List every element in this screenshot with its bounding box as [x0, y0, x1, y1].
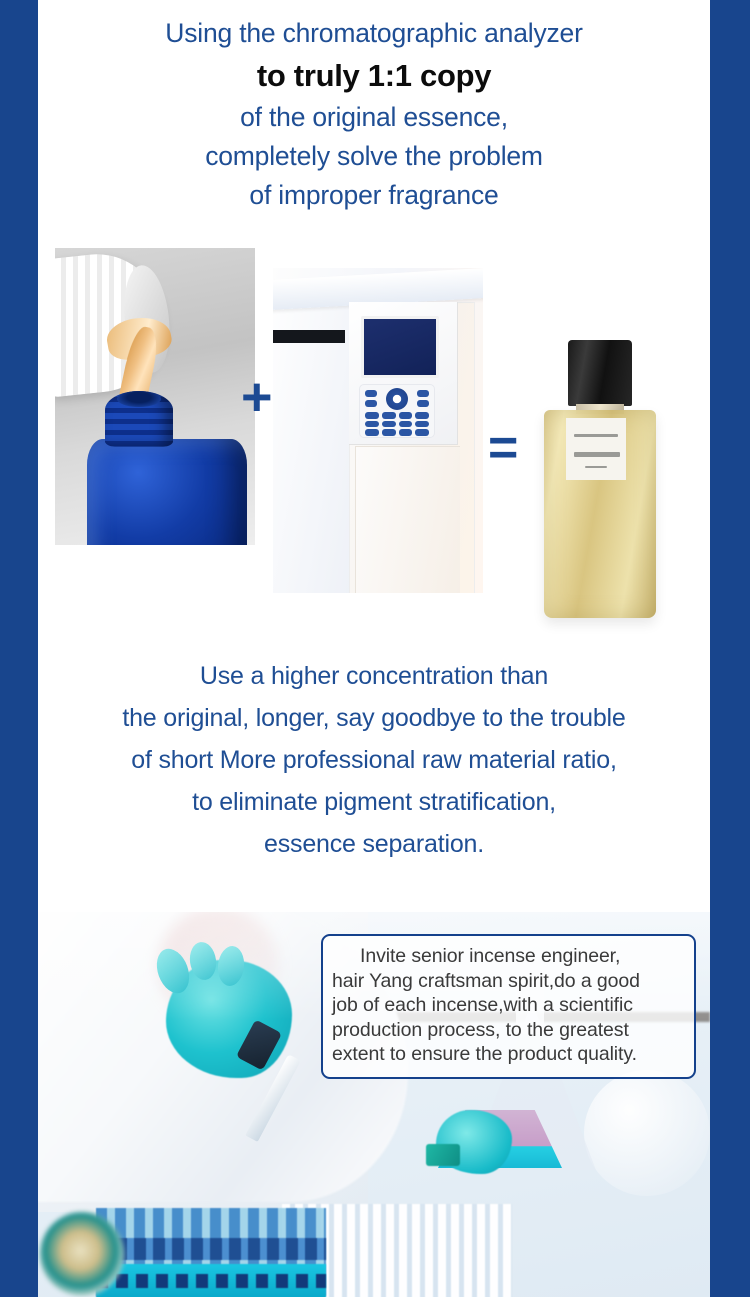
perfume-cap-shape — [568, 340, 632, 406]
headline-line-3: of the original essence, — [38, 98, 710, 137]
pipette-tip-rack-notches — [96, 1274, 326, 1288]
analyzer-softkey — [417, 390, 429, 397]
sample-vial-shape — [426, 1144, 460, 1166]
bokeh-highlight-shape — [40, 1212, 124, 1296]
round-flask-shape — [584, 1070, 710, 1196]
laboratory-photo: Invite senior incense engineer, hair Yan… — [38, 912, 710, 1297]
headline-block: Using the chromatographic analyzer to tr… — [38, 14, 710, 215]
headline-line-2-strong: to truly 1:1 copy — [38, 53, 710, 98]
callout-line-3: job of each incense,with a scientific — [332, 993, 685, 1018]
content-column: Using the chromatographic analyzer to tr… — [38, 0, 710, 1297]
paragraph-line-3: of short More professional raw material … — [38, 739, 710, 781]
analyzer-screen — [361, 316, 439, 378]
quality-callout-box: Invite senior incense engineer, hair Yan… — [321, 934, 696, 1079]
analyzer-dpad-icon — [386, 388, 408, 410]
blue-bottle-shape — [87, 439, 247, 545]
plus-icon: + — [241, 370, 273, 424]
process-strip: + — [38, 236, 710, 648]
blue-bottle-mouth-shape — [117, 391, 161, 407]
pipette-tip-rack-band — [96, 1238, 326, 1260]
analyzer-vent-slot-shape — [273, 330, 345, 343]
analyzer-oven-door-shape — [355, 446, 460, 593]
paragraph-line-4: to eliminate pigment stratification, — [38, 781, 710, 823]
analyzer-control-panel — [349, 302, 458, 445]
callout-line-4: production process, to the greatest — [332, 1018, 685, 1043]
headline-line-5: of improper fragrance — [38, 176, 710, 215]
headline-line-4: completely solve the problem — [38, 137, 710, 176]
analyzer-softkey — [365, 390, 377, 397]
equals-icon: = — [488, 422, 518, 474]
analyzer-keypad — [359, 384, 435, 438]
benefits-paragraph: Use a higher concentration than the orig… — [38, 655, 710, 865]
promo-page: Using the chromatographic analyzer to tr… — [0, 0, 750, 1297]
callout-line-2: hair Yang craftsman spirit,do a good — [332, 969, 685, 994]
right-blue-rail — [710, 0, 750, 1297]
analyzer-softkey — [417, 400, 429, 407]
callout-line-5: extent to ensure the product quality. — [332, 1042, 685, 1067]
analyzer-left-body-shape — [273, 302, 352, 593]
headline-line-1: Using the chromatographic analyzer — [38, 14, 710, 53]
analyzer-softkey — [365, 400, 377, 407]
paragraph-line-1: Use a higher concentration than — [38, 655, 710, 697]
callout-line-1: Invite senior incense engineer, — [332, 944, 685, 969]
left-blue-rail — [0, 0, 38, 1297]
analyzer-number-keys — [365, 412, 429, 436]
paragraph-line-5: essence separation. — [38, 823, 710, 865]
perfume-label-shape — [566, 418, 626, 480]
perfume-bottle-photo — [530, 334, 680, 634]
paragraph-line-2: the original, longer, say goodbye to the… — [38, 697, 710, 739]
pouring-essence-photo — [55, 248, 255, 545]
chromatograph-analyzer-photo — [273, 268, 483, 593]
